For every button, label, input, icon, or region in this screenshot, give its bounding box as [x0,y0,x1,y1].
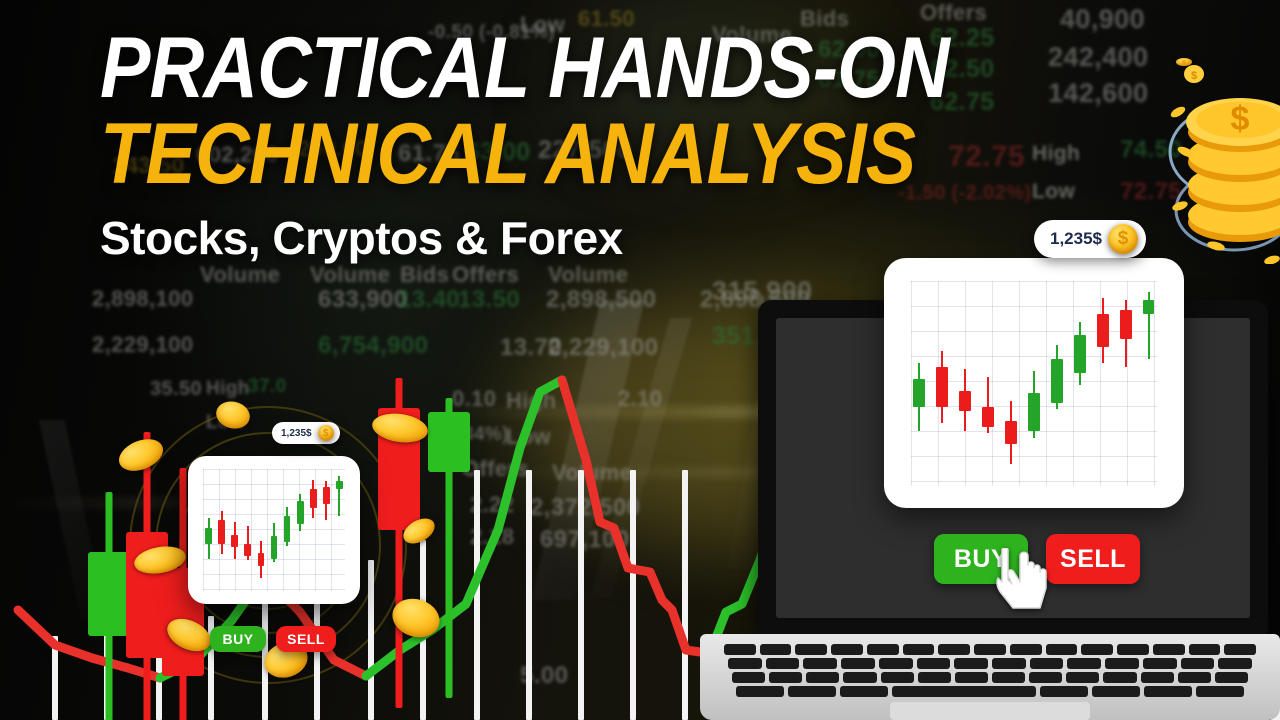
candlestick [244,456,251,604]
floating-card-candles [188,456,360,604]
keyboard-key[interactable] [728,658,762,669]
keyboard-key[interactable] [881,672,914,683]
candlestick [231,456,238,604]
keyboard-key[interactable] [918,672,951,683]
keyboard-key[interactable] [1196,686,1244,697]
laptop-trackpad[interactable] [890,702,1090,720]
keyboard-key[interactable] [1040,686,1088,697]
gold-coin-icon [114,433,167,477]
keyboard-key[interactable] [1178,672,1211,683]
candle-body [310,489,317,508]
candlestick [1097,258,1109,508]
keyboard-key[interactable] [867,644,899,655]
keyboard-key[interactable] [840,686,888,697]
candle-body [1097,314,1109,346]
candle-body [1051,359,1063,403]
keyboard-key[interactable] [992,658,1026,669]
keyboard-key[interactable] [1224,644,1256,655]
pointing-hand-cursor-icon [996,548,1054,610]
svg-text:$: $ [1191,70,1197,82]
candle-body [218,520,225,544]
gold-coin-icon [213,398,252,432]
keyboard-key[interactable] [766,658,800,669]
keyboard-key[interactable] [1029,672,1062,683]
candlestick [959,258,971,508]
keyboard-row [724,644,1256,655]
headline-block: Practical Hands-On Technical Analysis St… [100,28,1065,265]
keyboard-key[interactable] [1215,672,1248,683]
candle-body [297,501,304,524]
keyboard-key[interactable] [1066,672,1099,683]
laptop-card-candles [884,258,1184,508]
keyboard-key[interactable] [954,658,988,669]
candle-body [231,535,238,547]
floating-price-badge: 1,235$ $ [272,422,340,444]
keyboard-key[interactable] [831,644,863,655]
keyboard-key[interactable] [903,644,935,655]
laptop-trade-card [884,258,1184,508]
candlestick [284,456,291,604]
headline-line-1: Practical Hands-On [100,28,949,110]
keyboard-key[interactable] [760,644,792,655]
laptop-badge-coin-icon: $ [1108,224,1138,254]
candle-body [323,487,330,504]
candle-body [1005,421,1017,443]
candlestick [271,456,278,604]
poster-canvas: BidsOffers62.2562.5062.7562.0061.7540,90… [0,0,1280,720]
candle-body [982,407,994,427]
floating-trade-card [188,456,360,604]
keyboard-key[interactable] [788,686,836,697]
candlestick [936,258,948,508]
keyboard-key[interactable] [841,658,875,669]
gold-coin-icon [370,410,429,446]
gold-coin-icon [399,513,439,548]
candlestick [1143,258,1155,508]
candle-body [271,536,278,559]
keyboard-key[interactable] [879,658,913,669]
headline-subtitle: Stocks, Cryptos & Forex [100,211,1065,265]
keyboard-row [732,672,1248,683]
keyboard-key[interactable] [917,658,951,669]
keyboard-key[interactable] [1046,644,1078,655]
keyboard-key[interactable] [1010,644,1042,655]
candlestick [323,456,330,604]
candlestick [297,456,304,604]
keyboard-key[interactable] [736,686,784,697]
candle-body [1074,335,1086,373]
coin-stack: $ $ [1168,34,1280,264]
keyboard-key[interactable] [1030,658,1064,669]
candlestick [1074,258,1086,508]
candlestick [982,258,994,508]
keyboard-key[interactable] [803,658,837,669]
keyboard-key[interactable] [1141,672,1174,683]
candlestick [1051,258,1063,508]
keyboard-row [728,658,1252,669]
keyboard-key[interactable] [892,686,1036,697]
keyboard-key[interactable] [724,644,756,655]
candle-body [258,553,265,566]
keyboard-key[interactable] [1067,658,1101,669]
keyboard-key[interactable] [1144,686,1192,697]
candlestick [258,456,265,604]
keyboard-key[interactable] [1081,644,1113,655]
keyboard-key[interactable] [1218,658,1252,669]
keyboard-key[interactable] [843,672,876,683]
floating-price-value: 1,235$ [281,428,312,439]
candle-body [244,544,251,556]
keyboard-key[interactable] [938,644,970,655]
floating-sell-button[interactable]: SELL [276,626,336,652]
keyboard-row [736,686,1244,697]
keyboard-key[interactable] [1103,672,1136,683]
candle-body [1143,300,1155,314]
keyboard-key[interactable] [1143,658,1177,669]
candlestick [1005,258,1017,508]
keyboard-key[interactable] [1189,644,1221,655]
gold-coin-icon [162,612,216,657]
candlestick [218,456,225,604]
keyboard-key[interactable] [1181,658,1215,669]
keyboard-key[interactable] [1153,644,1185,655]
keyboard-key[interactable] [974,644,1006,655]
candlestick [336,456,343,604]
candle-body [936,367,948,407]
keyboard-key[interactable] [992,672,1025,683]
keyboard-key[interactable] [795,644,827,655]
keyboard-key[interactable] [955,672,988,683]
headline-line-2: Technical Analysis [100,114,949,196]
candlestick [205,456,212,604]
svg-text:$: $ [1231,100,1250,138]
floating-buy-button[interactable]: BUY [210,626,266,652]
candle-body [336,481,343,489]
keyboard-key[interactable] [1092,686,1140,697]
candle-body [1120,310,1132,338]
candlestick [310,456,317,604]
candle-body [205,528,212,545]
laptop-sell-button[interactable]: SELL [1046,534,1140,584]
candle-body [913,379,925,407]
keyboard-key[interactable] [1105,658,1139,669]
candle-body [959,391,971,411]
candle-body [1028,393,1040,431]
gold-coin-icon [132,543,188,578]
keyboard-key[interactable] [769,672,802,683]
keyboard-key[interactable] [732,672,765,683]
candlestick [1028,258,1040,508]
keyboard-key[interactable] [1117,644,1149,655]
candle-body [284,516,291,542]
floating-badge-coin-icon: $ [318,425,334,441]
candlestick [913,258,925,508]
keyboard-key[interactable] [806,672,839,683]
laptop-keyboard[interactable] [724,644,1256,698]
candlestick [1120,258,1132,508]
gold-coin-icon [387,593,444,643]
